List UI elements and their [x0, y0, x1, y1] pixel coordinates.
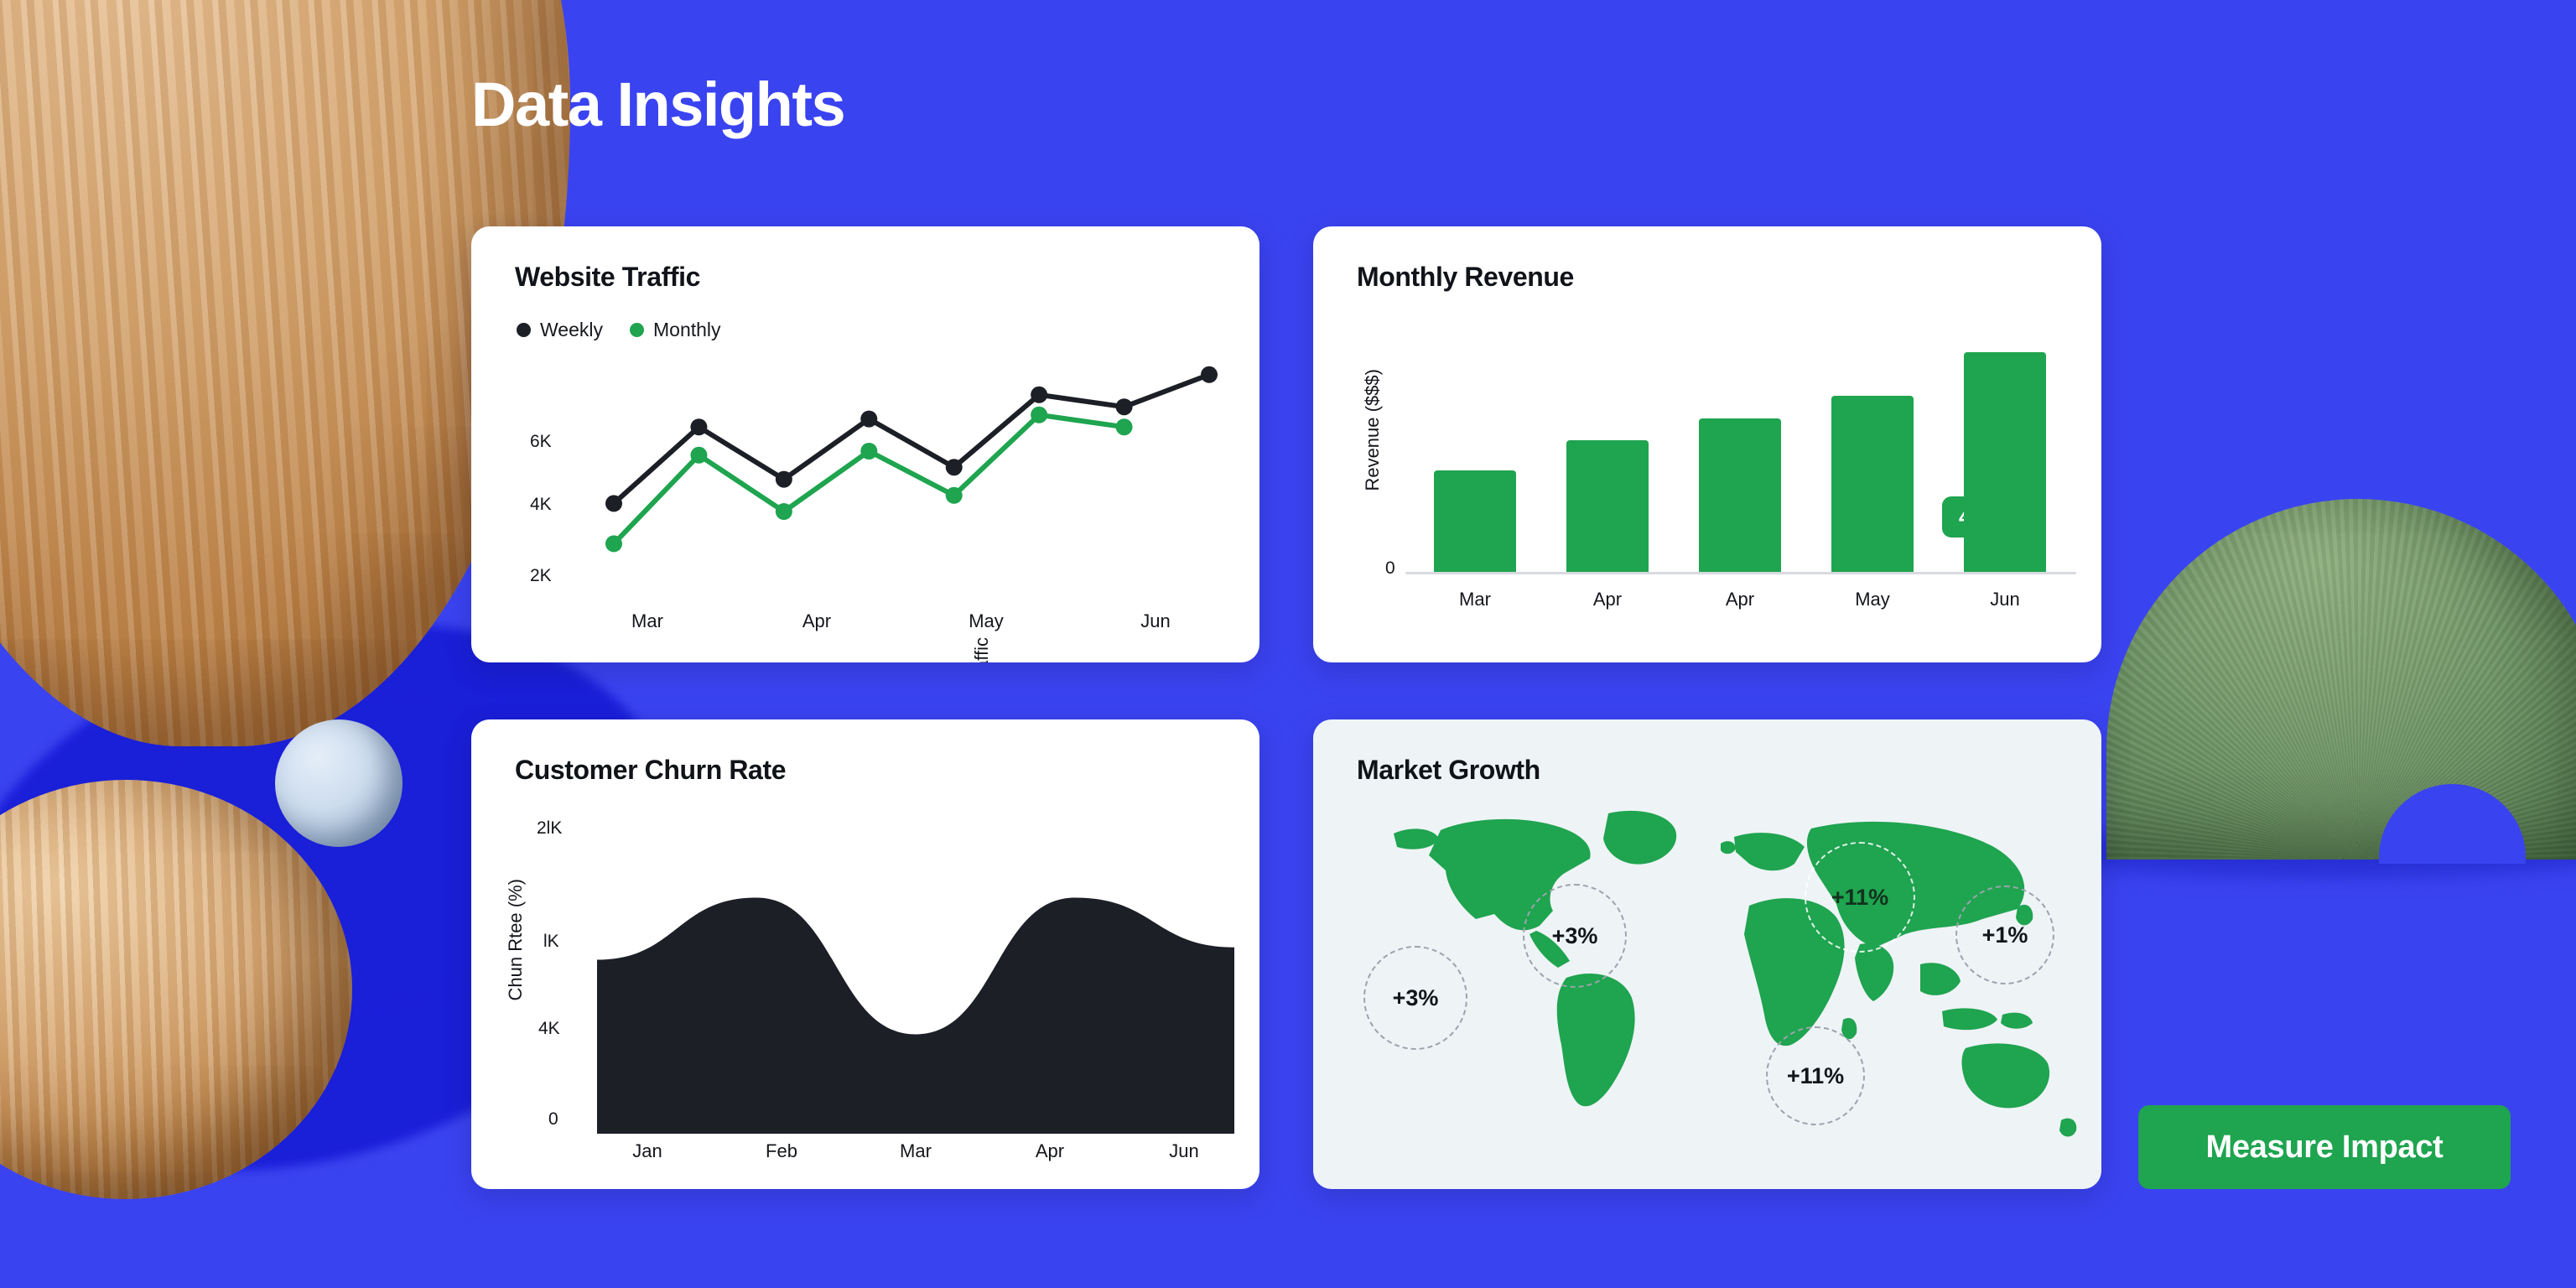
y-tick-label: 4K — [530, 495, 552, 515]
x-axis-labels-churn: JanFebMarAprJun — [580, 1140, 1251, 1169]
y-tick-label: 0 — [548, 1109, 558, 1130]
x-tick-label: Apr — [783, 610, 850, 632]
decorative-background — [0, 0, 2576, 1288]
decorative-green-arch — [2106, 499, 2576, 860]
legend-website-traffic: Weekly Monthly — [517, 319, 721, 341]
arch-shadow — [2023, 826, 2576, 876]
x-tick-label: Mar — [1409, 589, 1541, 610]
x-tick-label: Jan — [580, 1140, 714, 1162]
x-axis-labels-revenue: MarAprAprMayJun — [1409, 589, 2071, 617]
y-tick-label: lK — [543, 932, 559, 952]
arch-cutout — [2379, 784, 2526, 864]
card-monthly-revenue: Monthly Revenue Revenue ($$$) 0 42% MarA… — [1313, 226, 2101, 662]
x-tick-label: Mar — [614, 610, 681, 632]
legend-item-weekly[interactable]: Weekly — [517, 319, 603, 341]
card-market-growth: Market Growth +3% +3% +11% +1% +11% — [1313, 719, 2101, 1189]
bar[interactable] — [1434, 470, 1516, 572]
x-tick-label: Apr — [983, 1140, 1117, 1162]
card-title-customer-churn: Customer Churn Rate — [515, 755, 786, 786]
legend-label-weekly: Weekly — [540, 319, 603, 341]
card-customer-churn: Customer Churn Rate Chun Rtee (%) 2lK lK… — [471, 719, 1259, 1189]
bar[interactable] — [1831, 396, 1914, 572]
map-marker-north-pacific[interactable]: +1% — [1955, 885, 2054, 984]
line-chart-traffic — [572, 344, 1243, 595]
x-tick-label: Apr — [1674, 589, 1806, 610]
card-title-monthly-revenue: Monthly Revenue — [1357, 262, 1574, 293]
decorative-moon-sphere — [275, 719, 402, 847]
bar[interactable] — [1964, 352, 2046, 572]
card-website-traffic: Website Traffic Weekly Monthly Traffic 6… — [471, 226, 1259, 662]
y-tick-label: 4K — [538, 1019, 560, 1039]
x-tick-label: May — [1806, 589, 1939, 610]
x-tick-label: Feb — [714, 1140, 849, 1162]
y-tick-label-zero: 0 — [1385, 558, 1395, 579]
legend-item-monthly[interactable]: Monthly — [630, 319, 721, 341]
y-axis-title-churn: Chun Rtee (%) — [505, 879, 527, 1001]
bar-chart-revenue — [1409, 352, 2071, 572]
y-tick-label: 6K — [530, 432, 552, 452]
y-axis-title-revenue: Revenue ($$$) — [1362, 369, 1384, 491]
x-tick-label: Mar — [849, 1140, 983, 1162]
decorative-striped-sphere-small — [0, 780, 352, 1199]
x-tick-label: Apr — [1541, 589, 1674, 610]
x-tick-label: Jun — [1117, 1140, 1251, 1162]
y-tick-label: 2K — [530, 566, 552, 586]
x-tick-label: Jun — [1122, 610, 1189, 632]
area-chart-churn — [597, 845, 1234, 1134]
y-axis-title-traffic: Traffic — [971, 637, 993, 662]
bar[interactable] — [1699, 418, 1781, 572]
measure-impact-button[interactable]: Measure Impact — [2138, 1105, 2511, 1189]
legend-dot-weekly — [517, 323, 531, 337]
card-title-market-growth: Market Growth — [1357, 755, 1540, 786]
legend-dot-monthly — [630, 323, 644, 337]
x-tick-label: May — [953, 610, 1020, 632]
card-title-website-traffic: Website Traffic — [515, 262, 700, 293]
y-tick-label: 2lK — [537, 818, 562, 839]
bar[interactable] — [1566, 440, 1649, 572]
legend-label-monthly: Monthly — [653, 319, 721, 341]
map-marker-east-pacific[interactable]: +3% — [1363, 946, 1467, 1050]
map-marker-central-asia[interactable]: +11% — [1805, 842, 1915, 953]
x-tick-label: Jun — [1939, 589, 2071, 610]
page-title: Data Insights — [471, 74, 844, 136]
x-axis-baseline — [1405, 572, 2076, 574]
map-marker-indian-ocean[interactable]: +11% — [1766, 1026, 1865, 1125]
map-marker-north-atlantic[interactable]: +3% — [1523, 884, 1627, 988]
